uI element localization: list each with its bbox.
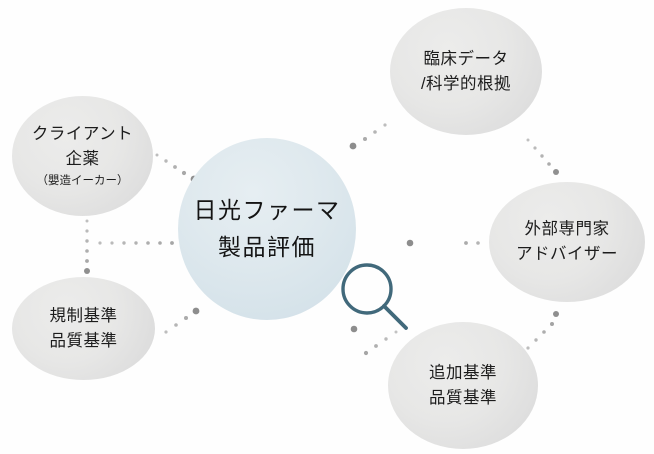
node-regulatory-line-2: 品質基準 (50, 329, 118, 354)
node-additional-line-2: 品質基準 (429, 386, 497, 411)
node-client-line-1: クライアント (32, 122, 133, 147)
magnifier-icon (336, 258, 414, 336)
connector-client-to-center (156, 154, 198, 183)
connector-expert-to-center (407, 240, 480, 247)
node-bubble-regulatory[interactable]: 規制基準 品質基準 (12, 277, 155, 380)
center-bubble[interactable]: 日光ファーマ 製品評価 (178, 138, 356, 320)
connector-regulatory-to-center (164, 308, 199, 334)
connector-additional-to-expert (526, 311, 559, 350)
center-bubble-line-1: 日光ファーマ (194, 192, 341, 229)
connector-clinical-to-expert (527, 139, 560, 176)
node-client-line-2: 企薬 (66, 147, 100, 172)
connector-clinical-to-center (350, 123, 387, 149)
center-bubble-line-2: 製品評価 (218, 229, 316, 266)
node-clinical-line-2: /科学的根拠 (421, 72, 511, 97)
node-bubble-expert[interactable]: 外部専門家 アドバイザー (489, 182, 645, 302)
node-additional-line-1: 追加基準 (429, 361, 497, 386)
node-expert-line-2: アドバイザー (516, 242, 618, 267)
node-bubble-clinical[interactable]: 臨床データ /科学的根拠 (390, 8, 542, 135)
connector-client-to-regulatory (84, 220, 90, 275)
node-clinical-line-1: 臨床データ (424, 47, 509, 72)
diagram-canvas: 日光ファーマ 製品評価 クライアント 企薬 （嬰造イーカー） 臨床データ /科学… (0, 0, 654, 454)
node-bubble-client[interactable]: クライアント 企薬 （嬰造イーカー） (12, 96, 153, 216)
node-expert-line-1: 外部専門家 (525, 217, 610, 242)
node-regulatory-line-1: 規制基準 (50, 304, 118, 329)
node-bubble-additional[interactable]: 追加基準 品質基準 (388, 322, 538, 449)
node-client-sub-line: （嬰造イーカー） (37, 172, 129, 191)
